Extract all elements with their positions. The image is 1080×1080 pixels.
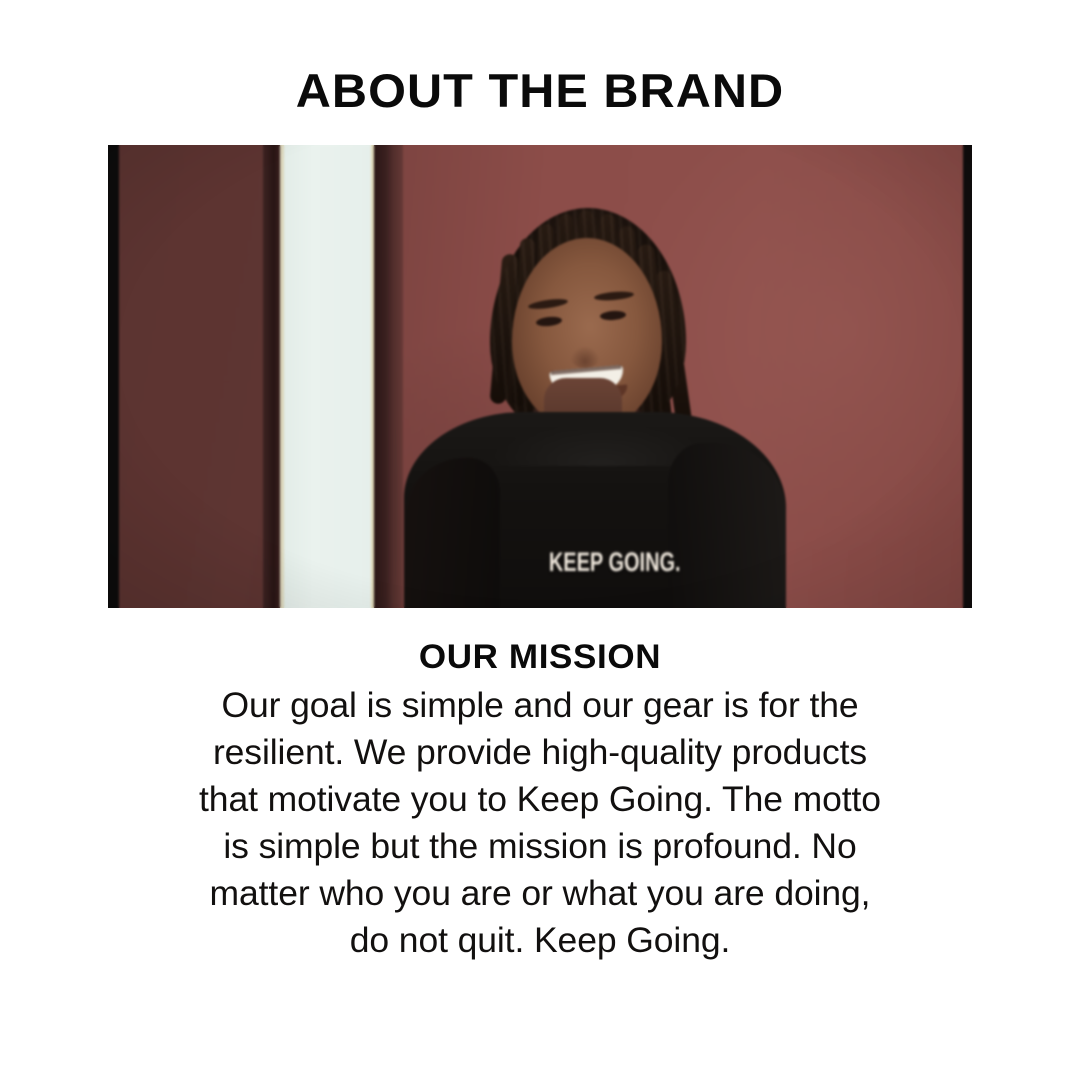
mission-heading: OUR MISSION: [0, 638, 1080, 677]
person-figure: KEEP GOING.: [394, 145, 794, 608]
sleeve-right: [668, 443, 786, 608]
eyebrow-right: [594, 290, 635, 301]
eye-left: [536, 316, 563, 328]
door-panel-white: [280, 145, 376, 608]
about-the-brand-page: ABOUT THE BRAND: [0, 0, 1080, 1080]
photo-edge-right: [963, 145, 972, 608]
page-title: ABOUT THE BRAND: [0, 65, 1080, 117]
door-jamb-right: [374, 145, 394, 608]
photo-edge-left: [108, 145, 119, 608]
shirt-print-text: KEEP GOING.: [549, 547, 673, 578]
black-tshirt: KEEP GOING.: [404, 412, 786, 608]
sleeve-left: [404, 458, 500, 608]
brand-photo: KEEP GOING.: [108, 145, 972, 608]
photo-scene: KEEP GOING.: [108, 145, 972, 608]
eyebrow-left: [528, 297, 569, 310]
mission-body-text: Our goal is simple and our gear is for t…: [190, 682, 890, 964]
eye-right: [600, 310, 627, 321]
nose: [570, 346, 600, 368]
